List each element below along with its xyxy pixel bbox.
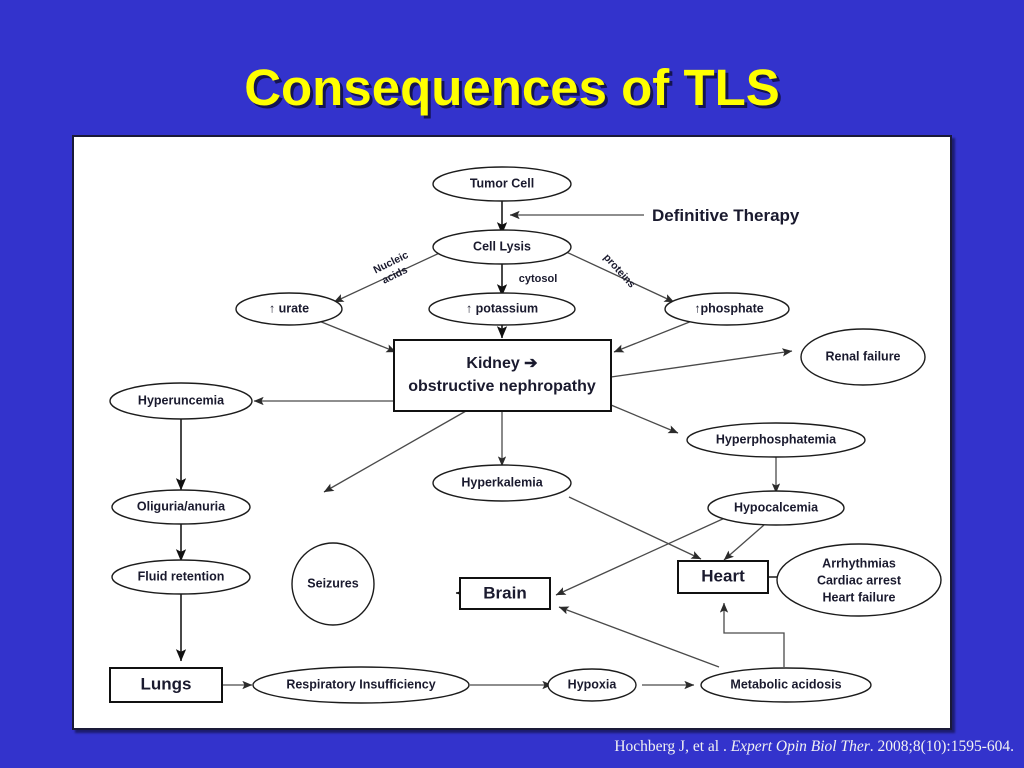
node-label-respiratory-insufficiency: Respiratory Insufficiency [286, 677, 435, 691]
node-kidney-obstructive-nephropathy[interactable]: Kidney ➔ obstructive nephropathy [394, 340, 611, 411]
node-label-kidney-line2: obstructive nephropathy [408, 378, 596, 395]
citation: Hochberg J, et al . Expert Opin Biol The… [0, 738, 1014, 756]
diagram-panel: Nucleic acids cytosol proteins Tumor Cel… [72, 135, 952, 730]
node-hypoxia[interactable]: Hypoxia [548, 669, 636, 701]
node-label-urate: ↑ urate [269, 301, 309, 315]
node-tumor-cell[interactable]: Tumor Cell [433, 167, 571, 201]
node-oliguria-anuria[interactable]: Oliguria/anuria [112, 490, 250, 524]
node-label-definitive-therapy: Definitive Therapy [652, 206, 800, 225]
node-label-kidney-line1: Kidney ➔ [466, 355, 538, 372]
edge-label-cytosol: cytosol [519, 273, 558, 285]
node-seizures[interactable]: Seizures [292, 543, 374, 625]
page-title: Consequences of TLS [0, 58, 1024, 117]
edge-kidney-renalfailure [611, 351, 792, 377]
citation-journal: Expert Opin Biol Ther [731, 738, 870, 755]
node-potassium[interactable]: ↑ potassium [429, 293, 575, 325]
node-label-hypocalcemia: Hypocalcemia [734, 500, 819, 514]
citation-details: . 2008;8(10):1595-604. [870, 738, 1014, 755]
node-label-potassium: ↑ potassium [466, 301, 538, 315]
node-renal-failure[interactable]: Renal failure [801, 329, 925, 385]
edge-urate-kidney [319, 321, 396, 352]
slide-canvas: Consequences of TLS [0, 0, 1024, 768]
node-heart[interactable]: Heart [678, 561, 768, 593]
node-label-phosphate: ↑phosphate [694, 301, 763, 315]
node-cell-lysis[interactable]: Cell Lysis [433, 230, 571, 264]
edge-metabolicacidosis-heart [724, 603, 784, 667]
node-label-hyperuncemia: Hyperuncemia [138, 393, 225, 407]
edge-kidney-hyperphosphatemia [611, 405, 678, 433]
edge-hypocalcemia-heart [724, 525, 764, 560]
node-fluid-retention[interactable]: Fluid retention [112, 560, 250, 594]
node-label-metabolic-acidosis: Metabolic acidosis [730, 677, 841, 691]
node-label-oliguria-anuria: Oliguria/anuria [137, 499, 226, 513]
node-label-cardiac-line1: Arrhythmias [822, 556, 896, 570]
node-label-cardiac-line3: Heart failure [823, 590, 896, 604]
node-label-hyperkalemia: Hyperkalemia [461, 475, 543, 489]
node-label-renal-failure: Renal failure [825, 349, 900, 363]
node-label-heart: Heart [701, 566, 745, 585]
node-label-fluid-retention: Fluid retention [138, 569, 225, 583]
node-lungs[interactable]: Lungs [110, 668, 222, 702]
node-brain[interactable]: Brain [460, 578, 550, 609]
edge-metabolicacidosis-brain [559, 607, 719, 667]
node-respiratory-insufficiency[interactable]: Respiratory Insufficiency [253, 667, 469, 703]
node-hyperphosphatemia[interactable]: Hyperphosphatemia [687, 423, 865, 457]
citation-authors: Hochberg J, et al . [614, 738, 727, 755]
node-urate[interactable]: ↑ urate [236, 293, 342, 325]
node-label-hyperphosphatemia: Hyperphosphatemia [716, 432, 837, 446]
node-hyperuncemia[interactable]: Hyperuncemia [110, 383, 252, 419]
node-label-tumor-cell: Tumor Cell [470, 176, 534, 190]
node-label-seizures: Seizures [307, 576, 358, 590]
node-cardiac-outcomes[interactable]: Arrhythmias Cardiac arrest Heart failure [777, 544, 941, 616]
edge-phosphate-kidney [614, 321, 692, 352]
node-label-brain: Brain [483, 583, 526, 602]
node-hyperkalemia[interactable]: Hyperkalemia [433, 465, 571, 501]
edge-hyperkalemia-heart [569, 497, 701, 559]
node-label-cell-lysis: Cell Lysis [473, 239, 531, 253]
tls-consequences-flowchart: Nucleic acids cytosol proteins Tumor Cel… [74, 137, 950, 728]
node-hypocalcemia[interactable]: Hypocalcemia [708, 491, 844, 525]
node-label-lungs: Lungs [141, 674, 192, 693]
node-phosphate[interactable]: ↑phosphate [665, 293, 789, 325]
node-label-cardiac-line2: Cardiac arrest [817, 573, 902, 587]
node-label-hypoxia: Hypoxia [568, 677, 618, 691]
node-metabolic-acidosis[interactable]: Metabolic acidosis [701, 668, 871, 702]
